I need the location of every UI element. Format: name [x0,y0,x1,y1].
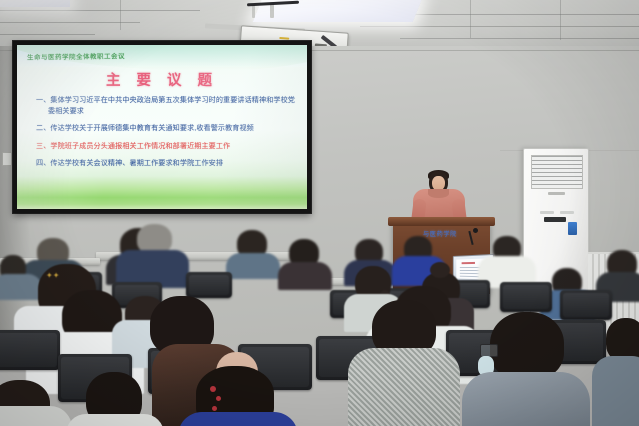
slide-header-text: 生命与医药学院全体教职工会议 [27,50,125,61]
ac-energy-label [568,222,577,235]
eyeglasses [480,344,498,357]
projection-screen: 生命与医药学院全体教职工会议 主 要 议 题 一、集体学习习近平在中共中央政治局… [13,41,311,213]
hair-tie [212,406,217,411]
microphone-head [473,228,478,233]
ac-display-panel [544,217,566,222]
projected-slide: 生命与医药学院全体教职工会议 主 要 议 题 一、集体学习习近平在中共中央政治局… [17,45,307,209]
chair [560,290,612,320]
projector-mount-rod-2 [252,4,255,18]
chair [0,330,60,370]
ceiling-light-panel-secondary [0,0,70,7]
photo-scene: 生命与医药学院全体教职工会议 主 要 议 题 一、集体学习习近平在中共中央政治局… [0,0,639,426]
slide-title: 主 要 议 题 [17,69,307,90]
hair-tie [210,386,216,392]
speaker-collar [428,189,449,198]
slide-agenda-item-1: 一、集体学习习近平在中共中央政治局第五次集体学习时的重要讲话精神和学校党委相关要… [36,95,295,117]
chair [500,282,552,312]
ac-brand-logo [548,192,565,195]
chair [186,272,232,298]
ac-top-grille [531,155,583,189]
lectern-top-edge [388,217,495,226]
slide-agenda-item-3: 三、学院班子成员分头通报相关工作情况和部署近期主要工作 [36,141,295,152]
slide-agenda-item-4: 四、传达学校有关会议精神、暑期工作要求和学院工作安排 [36,158,295,169]
hair-tie [216,396,221,401]
slide-agenda-list: 一、集体学习习近平在中共中央政治局第五次集体学习时的重要讲话精神和学校党委相关要… [36,95,295,176]
wall-outlet[interactable] [2,152,12,166]
lectern-sign-text: 与医药学院 [423,229,457,238]
slide-agenda-item-2: 二、传达学校关于开展师德集中教育有关通知要求,收看警示教育视频 [36,123,295,134]
